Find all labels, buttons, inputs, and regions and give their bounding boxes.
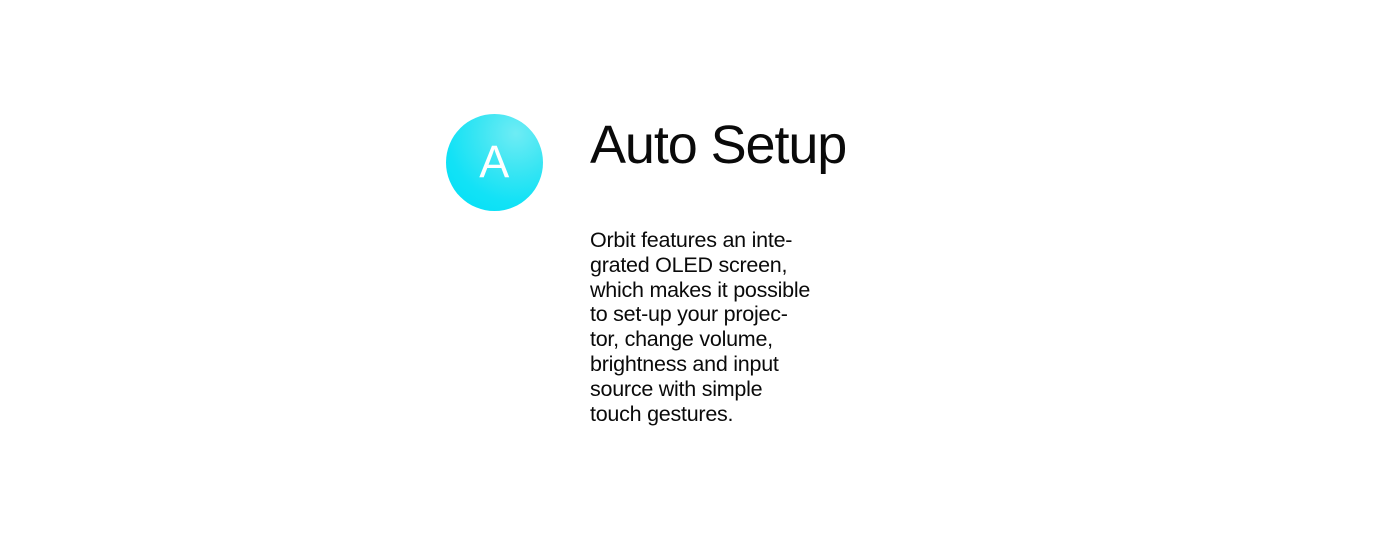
description-line: brightness and input: [590, 352, 835, 377]
auto-setup-feature-card: A Auto Setup Orbit features an inte- gra…: [446, 114, 866, 211]
description-line: touch gestures.: [590, 402, 835, 427]
feature-description: Orbit features an inte- grated OLED scre…: [590, 228, 835, 426]
description-line: Orbit features an inte-: [590, 228, 835, 253]
feature-header: A Auto Setup: [446, 114, 866, 211]
description-line: source with simple: [590, 377, 835, 402]
page-title: Auto Setup: [590, 118, 846, 172]
description-line: grated OLED screen,: [590, 253, 835, 278]
auto-setup-badge-icon: A: [446, 114, 543, 211]
description-line: to set-up your projec-: [590, 302, 835, 327]
badge-letter: A: [479, 139, 510, 184]
description-line: tor, change volume,: [590, 327, 835, 352]
description-line: which makes it possible: [590, 278, 835, 303]
